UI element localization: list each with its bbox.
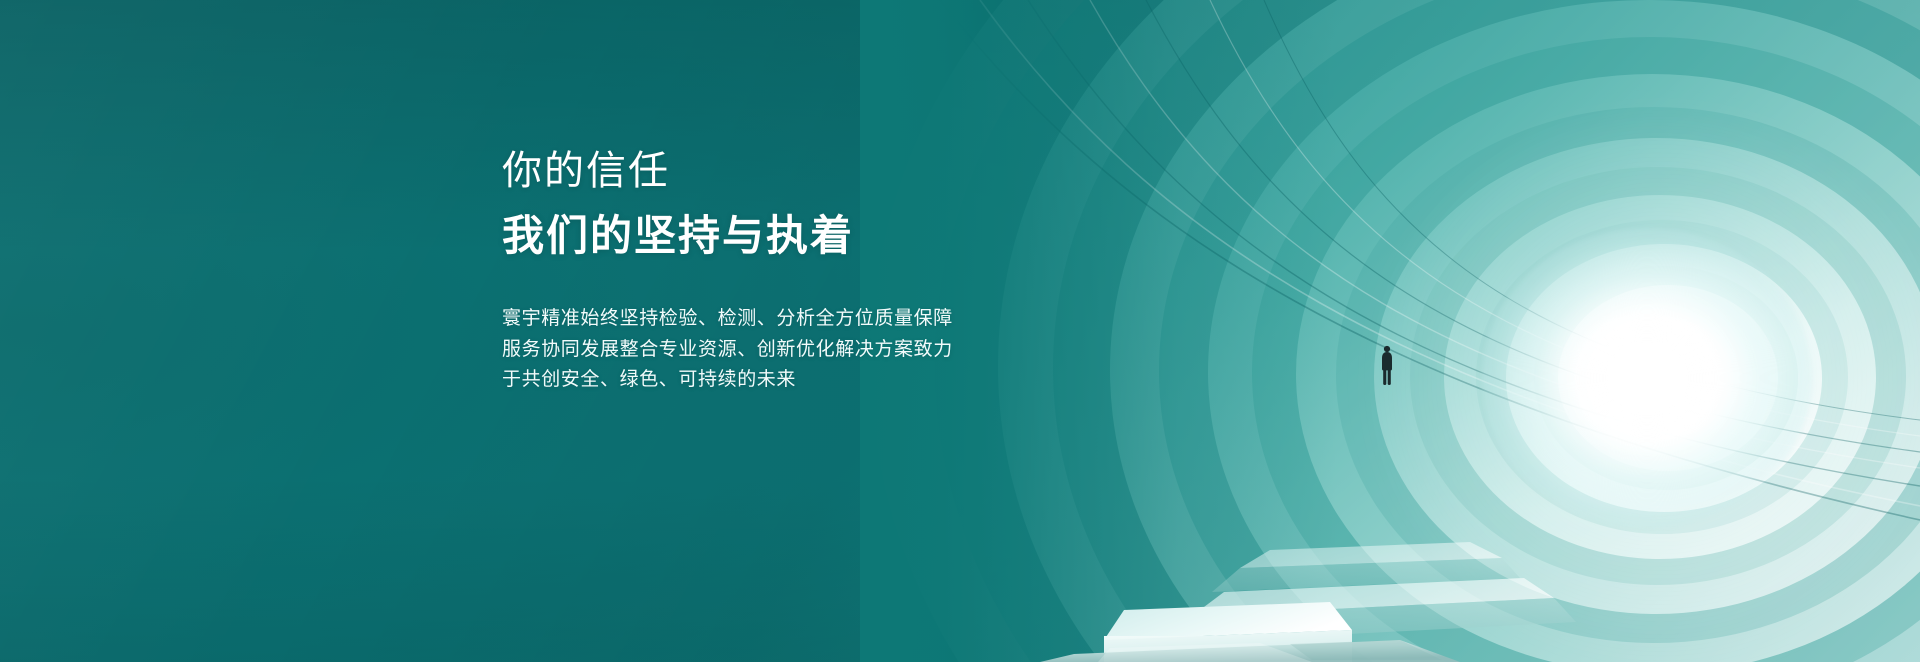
description-line-1: 寰宇精准始终坚持检验、检测、分析全方位质量保障: [502, 304, 986, 335]
hero-banner: 你的信任 我们的坚持与执着 寰宇精准始终坚持检验、检测、分析全方位质量保障 服务…: [0, 0, 1920, 662]
banner-text-block: 你的信任 我们的坚持与执着 寰宇精准始终坚持检验、检测、分析全方位质量保障 服务…: [502, 146, 1022, 396]
person-silhouette: [1378, 344, 1396, 386]
description-line-2: 服务协同发展整合专业资源、创新优化解决方案致力: [502, 335, 986, 366]
headline-line-2: 我们的坚持与执着: [502, 209, 1022, 264]
banner-description: 寰宇精准始终坚持检验、检测、分析全方位质量保障 服务协同发展整合专业资源、创新优…: [502, 304, 986, 396]
platform-steps: [860, 402, 1920, 662]
description-line-3: 于共创安全、绿色、可持续的未来: [502, 365, 986, 396]
headline-line-1: 你的信任: [502, 146, 1022, 197]
